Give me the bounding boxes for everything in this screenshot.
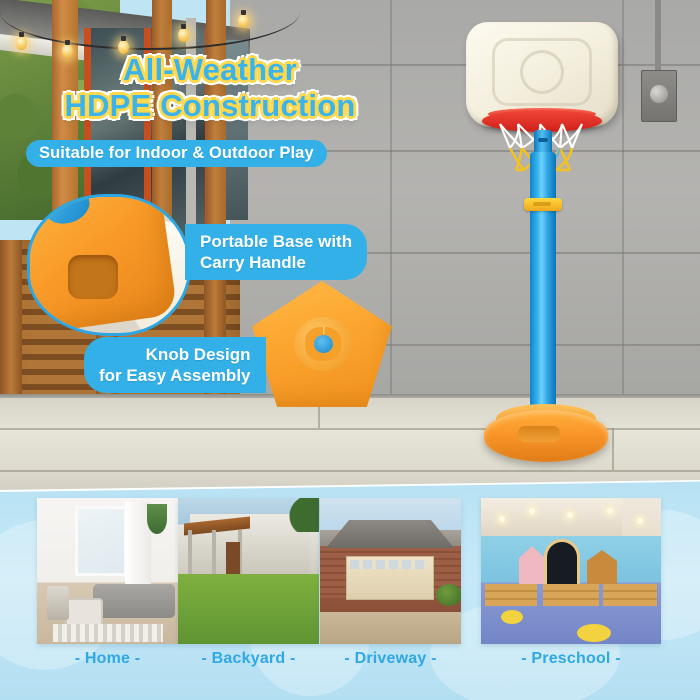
callout-knob-design: Knob Design for Easy Assembly <box>84 337 266 393</box>
preschool-photo <box>481 498 661 644</box>
scene-label-driveway: - Driveway - <box>320 650 461 668</box>
main-product-photo: All-Weather HDPE Construction Suitable f… <box>0 0 700 498</box>
knob-center <box>314 335 333 353</box>
railing-post <box>0 240 22 415</box>
headline-line-2: HDPE Construction <box>0 88 420 124</box>
inset-portable-base-photo <box>27 194 191 336</box>
scene-panel-driveway <box>320 498 461 644</box>
scene-panel-home <box>37 498 178 644</box>
page-title: All-Weather HDPE Construction <box>0 52 420 124</box>
basketball-hoop-product <box>466 22 626 442</box>
height-adjust-collar <box>524 198 562 211</box>
wall-conduit <box>655 0 661 72</box>
hoop-pole <box>530 152 556 434</box>
string-light-bulb <box>238 14 249 28</box>
callout-portable-base: Portable Base with Carry Handle <box>185 224 367 280</box>
callout-knob-line-2: for Easy Assembly <box>99 365 251 386</box>
base-carry-handle <box>518 426 560 442</box>
product-marketing-image: All-Weather HDPE Construction Suitable f… <box>0 0 700 700</box>
inset-knob-photo <box>252 281 392 407</box>
string-light-bulb <box>178 28 189 42</box>
driveway-photo <box>320 498 461 644</box>
callout-base-line-1: Portable Base with <box>200 231 352 252</box>
home-photo <box>37 498 178 644</box>
backyard-photo <box>178 498 319 644</box>
scene-panel-backyard <box>178 498 319 644</box>
callout-knob-line-1: Knob Design <box>99 344 251 365</box>
scene-label-backyard: - Backyard - <box>178 650 319 668</box>
string-light-bulb <box>16 36 27 50</box>
scene-label-home: - Home - <box>37 650 178 668</box>
subtitle-banner: Suitable for Indoor & Outdoor Play <box>26 140 327 167</box>
scene-label-preschool: - Preschool - <box>481 650 661 668</box>
use-case-panels: - Home - - Backyard - - Driveway - <box>0 498 700 700</box>
electrical-box <box>641 70 677 122</box>
subtitle-text: Suitable for Indoor & Outdoor Play <box>39 144 314 163</box>
callout-base-line-2: Carry Handle <box>200 252 352 273</box>
scene-panel-preschool <box>481 498 661 644</box>
headline-line-1: All-Weather <box>123 52 297 87</box>
